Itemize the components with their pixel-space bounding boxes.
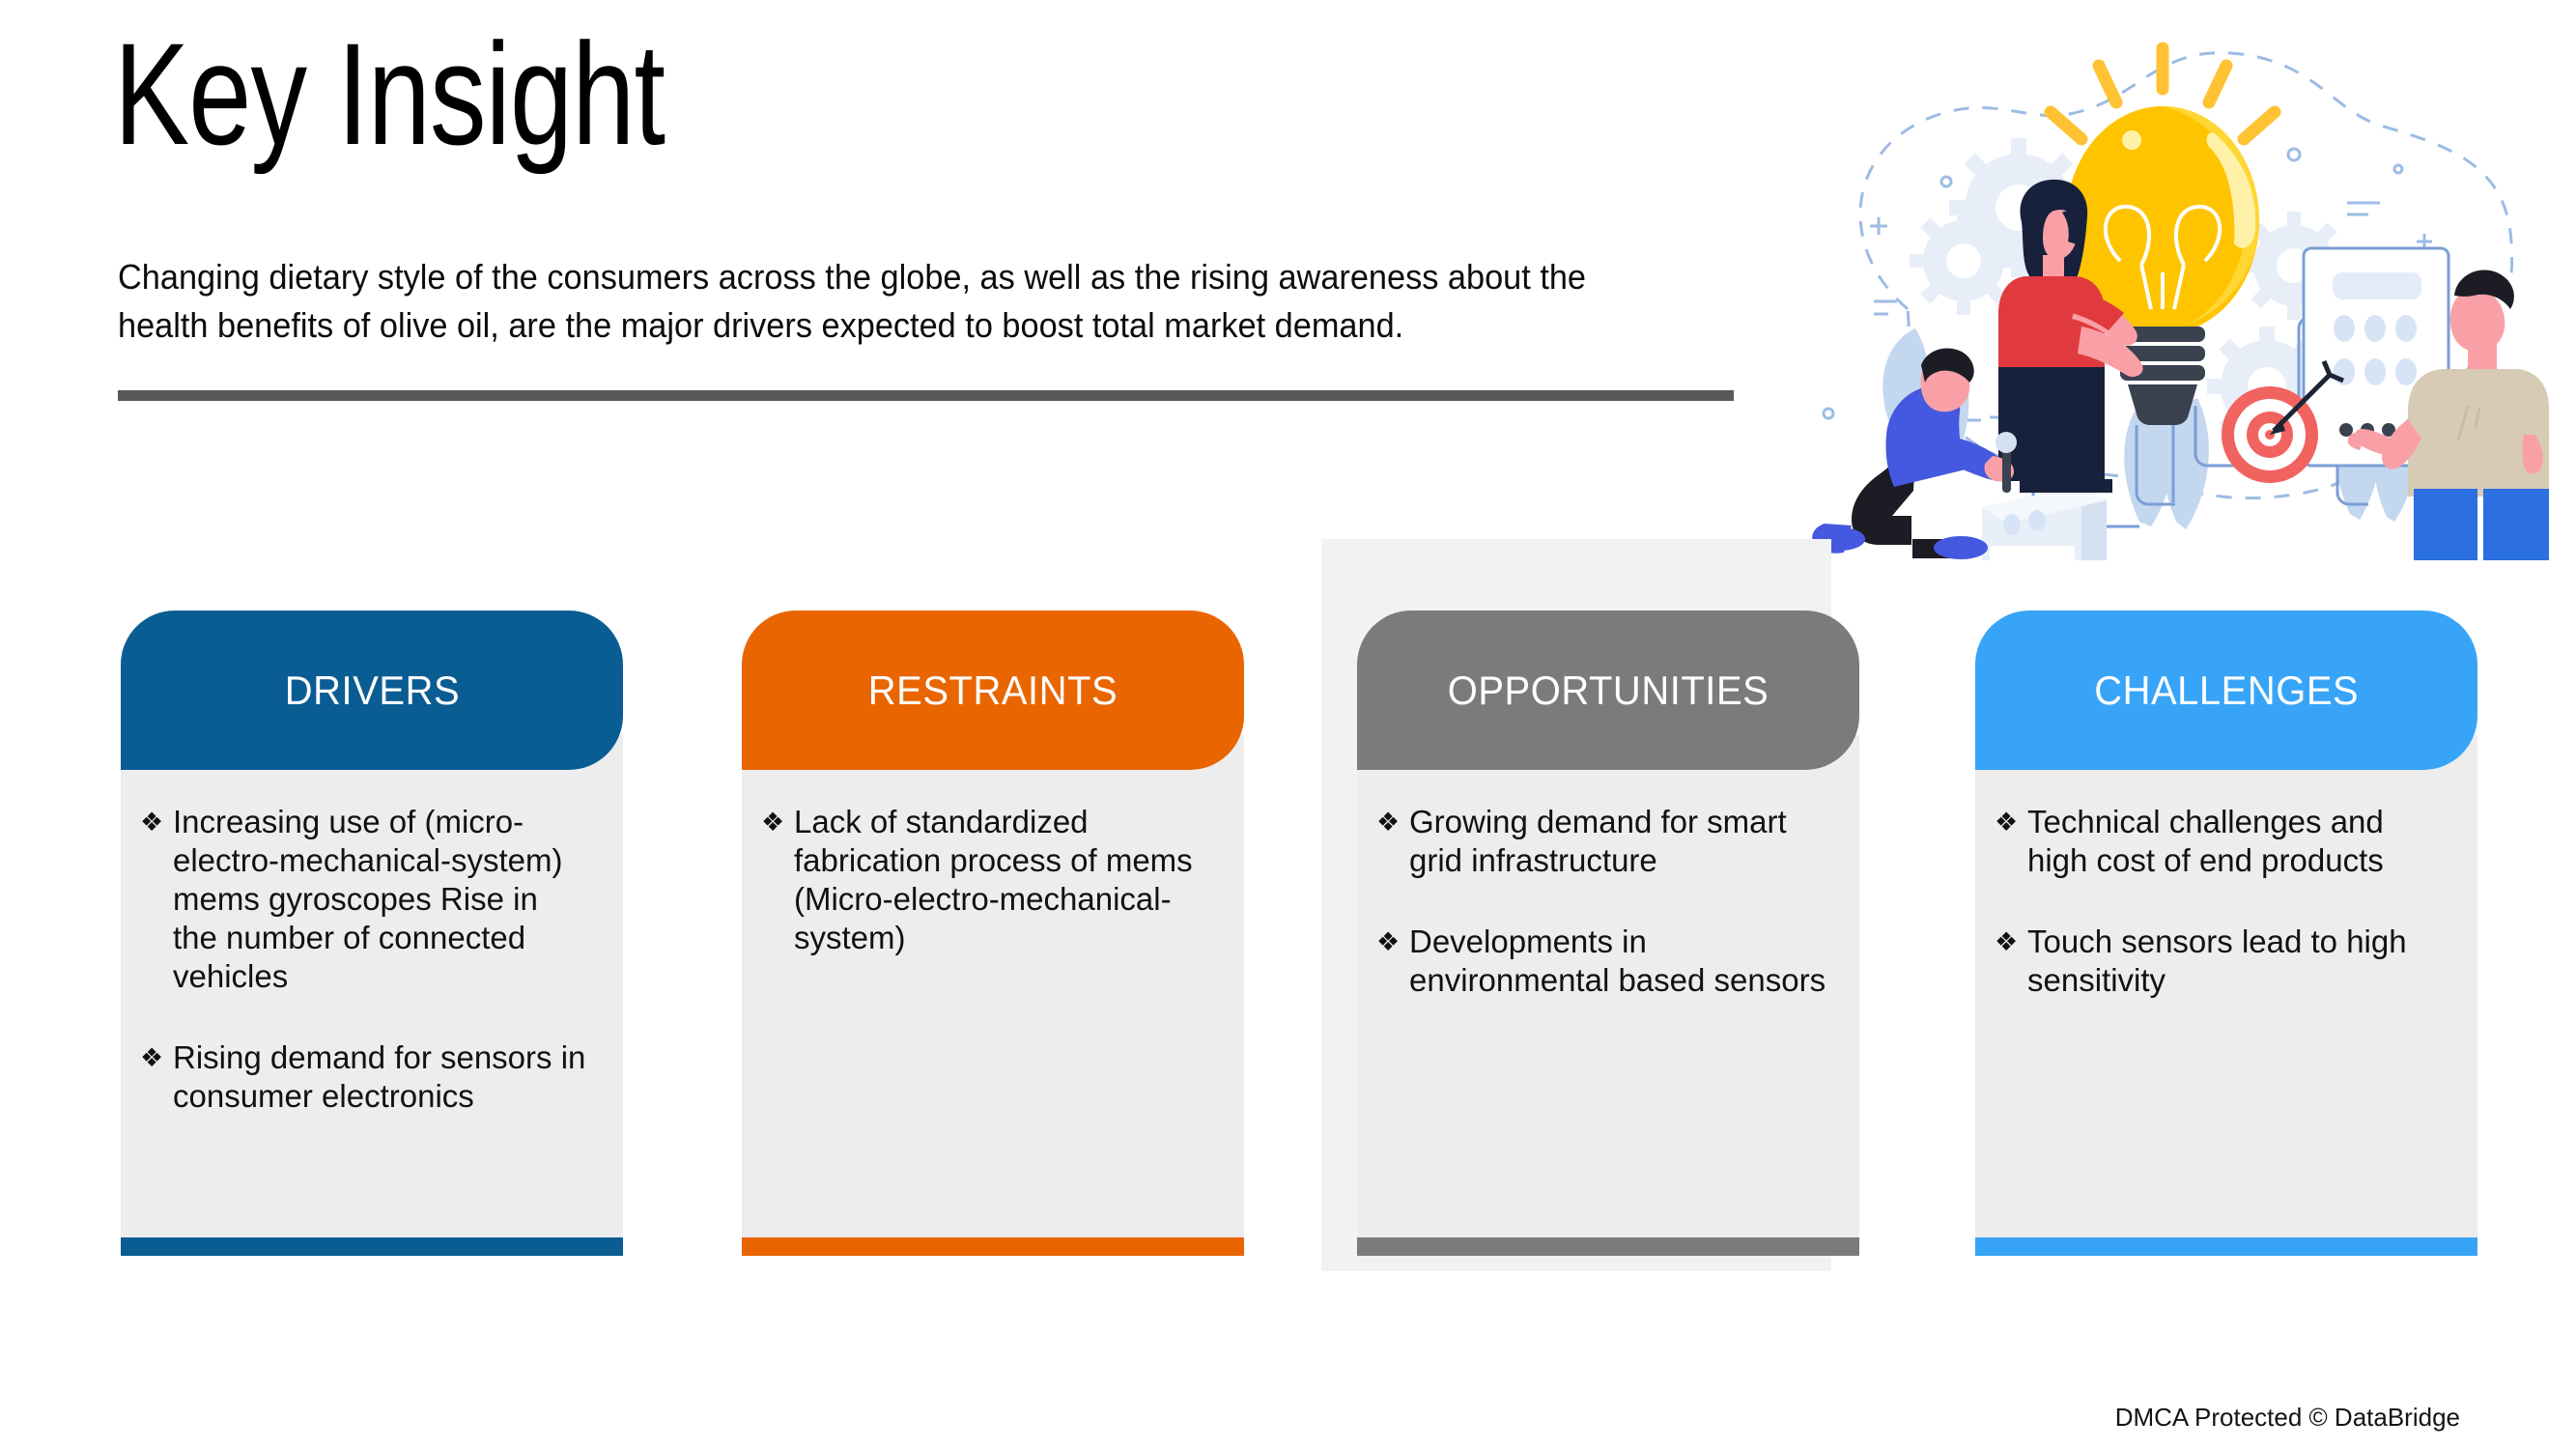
card-opportunities-body: ❖ Growing demand for smart grid infrastr…: [1357, 735, 1859, 1237]
page-subtitle: Changing dietary style of the consumers …: [118, 253, 1643, 350]
card-restraints-accent-bar: [742, 1237, 1244, 1256]
list-item-text: Developments in environmental based sens…: [1409, 923, 1826, 1000]
list-item: ❖ Growing demand for smart grid infrastr…: [1376, 803, 1826, 880]
card-challenges-header: CHALLENGES: [1975, 611, 2477, 770]
page-title: Key Insight: [114, 21, 665, 166]
card-drivers-body: ❖ Increasing use of (micro-electro-mecha…: [121, 735, 623, 1237]
card-restraints-header: RESTRAINTS: [742, 611, 1244, 770]
card-opportunities-accent-bar: [1357, 1237, 1859, 1256]
bullet-diamond-icon: ❖: [1376, 923, 1409, 1000]
bullet-diamond-icon: ❖: [140, 1038, 173, 1116]
list-item: ❖ Rising demand for sensors in consumer …: [140, 1038, 590, 1116]
idea-lightbulb-illustration: [1792, 19, 2555, 560]
list-item-text: Rising demand for sensors in consumer el…: [173, 1038, 590, 1116]
bullet-diamond-icon: ❖: [1995, 923, 2027, 1000]
title-divider: [118, 390, 1734, 401]
card-challenges-body: ❖ Technical challenges and high cost of …: [1975, 735, 2477, 1237]
list-item: ❖ Touch sensors lead to high sensitivity: [1995, 923, 2445, 1000]
card-drivers-bullet-list: ❖ Increasing use of (micro-electro-mecha…: [140, 803, 590, 1116]
list-item: ❖ Increasing use of (micro-electro-mecha…: [140, 803, 590, 996]
card-drivers-header: DRIVERS: [121, 611, 623, 770]
card-opportunities-bullet-list: ❖ Growing demand for smart grid infrastr…: [1376, 803, 1826, 1000]
card-challenges-accent-bar: [1975, 1237, 2477, 1256]
list-item-text: Growing demand for smart grid infrastruc…: [1409, 803, 1826, 880]
card-challenges[interactable]: CHALLENGES ❖ Technical challenges and hi…: [1975, 611, 2477, 1256]
bullet-diamond-icon: ❖: [1376, 803, 1409, 880]
list-item-text: Touch sensors lead to high sensitivity: [2027, 923, 2445, 1000]
bullet-diamond-icon: ❖: [761, 803, 794, 957]
list-item: ❖ Technical challenges and high cost of …: [1995, 803, 2445, 880]
footer-copyright: DMCA Protected © DataBridge: [2115, 1403, 2460, 1433]
card-restraints-body: ❖ Lack of standardized fabrication proce…: [742, 735, 1244, 1237]
list-item: ❖ Lack of standardized fabrication proce…: [761, 803, 1211, 957]
card-opportunities-title: OPPORTUNITIES: [1448, 668, 1769, 714]
list-item-text: Lack of standardized fabrication process…: [794, 803, 1211, 957]
list-item-text: Increasing use of (micro-electro-mechani…: [173, 803, 590, 996]
slide-root: Key Insight Changing dietary style of th…: [0, 0, 2576, 1449]
card-challenges-bullet-list: ❖ Technical challenges and high cost of …: [1995, 803, 2445, 1000]
card-drivers-title: DRIVERS: [284, 668, 459, 714]
card-restraints-title: RESTRAINTS: [868, 668, 1118, 714]
bullet-diamond-icon: ❖: [140, 803, 173, 996]
card-restraints[interactable]: RESTRAINTS ❖ Lack of standardized fabric…: [742, 611, 1244, 1256]
card-opportunities-header: OPPORTUNITIES: [1357, 611, 1859, 770]
bullet-diamond-icon: ❖: [1995, 803, 2027, 880]
list-item-text: Technical challenges and high cost of en…: [2027, 803, 2445, 880]
card-drivers-accent-bar: [121, 1237, 623, 1256]
list-item: ❖ Developments in environmental based se…: [1376, 923, 1826, 1000]
card-challenges-title: CHALLENGES: [2094, 668, 2359, 714]
card-restraints-bullet-list: ❖ Lack of standardized fabrication proce…: [761, 803, 1211, 957]
card-opportunities[interactable]: OPPORTUNITIES ❖ Growing demand for smart…: [1357, 611, 1859, 1256]
card-drivers[interactable]: DRIVERS ❖ Increasing use of (micro-elect…: [121, 611, 623, 1256]
